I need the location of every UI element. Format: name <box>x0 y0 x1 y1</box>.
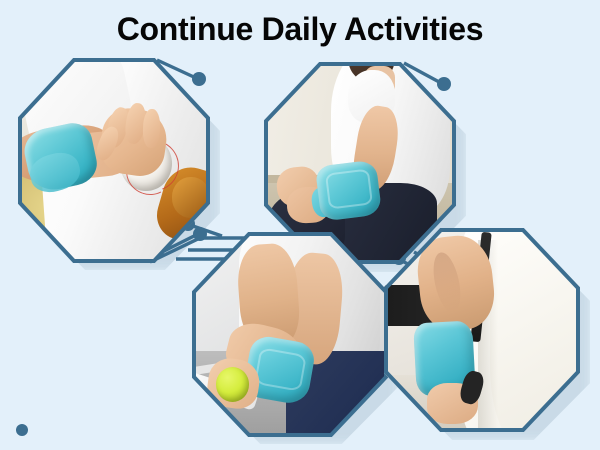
panel-white-coat-border <box>384 228 580 432</box>
panel-tennis-border <box>192 232 388 437</box>
panel-tennis[interactable] <box>192 232 388 437</box>
panel-white-coat[interactable] <box>384 228 580 432</box>
connector-dot-edge-left <box>16 424 28 436</box>
panel-baseball[interactable] <box>18 58 210 263</box>
panel-baseball-border <box>18 58 210 263</box>
page-title: Continue Daily Activities <box>0 11 600 48</box>
promo-banner: Continue Daily Activities <box>0 0 600 450</box>
